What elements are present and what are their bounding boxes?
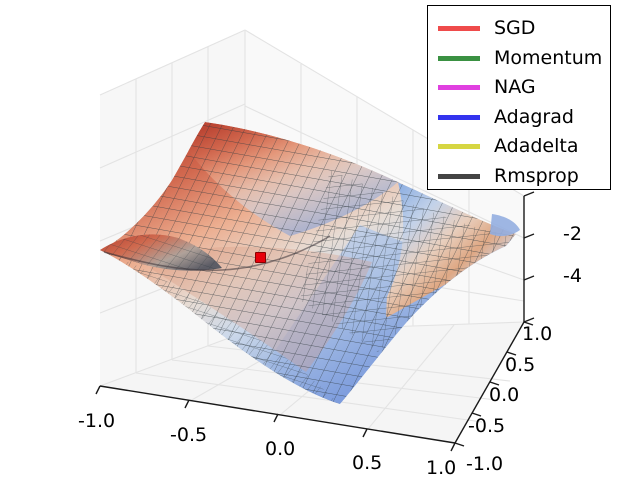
start-point-marker (255, 252, 266, 263)
legend-label-adagrad: Adagrad (494, 108, 574, 127)
legend-label-nag: NAG (494, 78, 536, 97)
legend-line-nag (438, 85, 480, 90)
y-tick-label: 0.0 (489, 386, 519, 405)
legend-item-sgd[interactable]: SGD (438, 14, 600, 44)
legend-label-sgd: SGD (494, 19, 535, 38)
x-tick-label: -1.0 (78, 412, 115, 431)
legend-line-momentum (438, 56, 480, 61)
x-tick-label: 0.5 (352, 454, 382, 473)
z-tick-label: -2 (563, 225, 582, 244)
x-tick-label: 0.0 (265, 440, 295, 459)
legend-label-adadelta: Adadelta (494, 137, 579, 156)
y-tick-label: -1.0 (466, 455, 503, 474)
legend-item-adadelta[interactable]: Adadelta (438, 132, 600, 162)
legend-line-sgd (438, 26, 480, 31)
y-tick-label: 0.5 (505, 356, 535, 375)
legend-label-momentum: Momentum (494, 49, 602, 68)
legend-item-momentum[interactable]: Momentum (438, 44, 600, 74)
figure-canvas: -1.0 -0.5 0.0 0.5 1.0 -1.0 -0.5 0.0 0.5 … (0, 0, 620, 480)
legend-line-adagrad (438, 115, 480, 120)
legend-item-adagrad[interactable]: Adagrad (438, 103, 600, 133)
x-tick-label: 1.0 (426, 459, 456, 478)
legend-label-rmsprop: Rmsprop (494, 167, 579, 186)
z-tick-label: -4 (563, 267, 582, 286)
x-tick-label: -0.5 (170, 426, 207, 445)
legend-box[interactable]: SGD Momentum NAG Adagrad Adadelta Rmspro… (427, 5, 611, 190)
legend-line-adadelta (438, 144, 480, 149)
y-tick-label: -0.5 (468, 417, 505, 436)
legend-line-rmsprop (438, 174, 480, 179)
y-tick-label: 1.0 (522, 325, 552, 344)
legend-item-nag[interactable]: NAG (438, 73, 600, 103)
legend-item-rmsprop[interactable]: Rmsprop (438, 162, 600, 192)
